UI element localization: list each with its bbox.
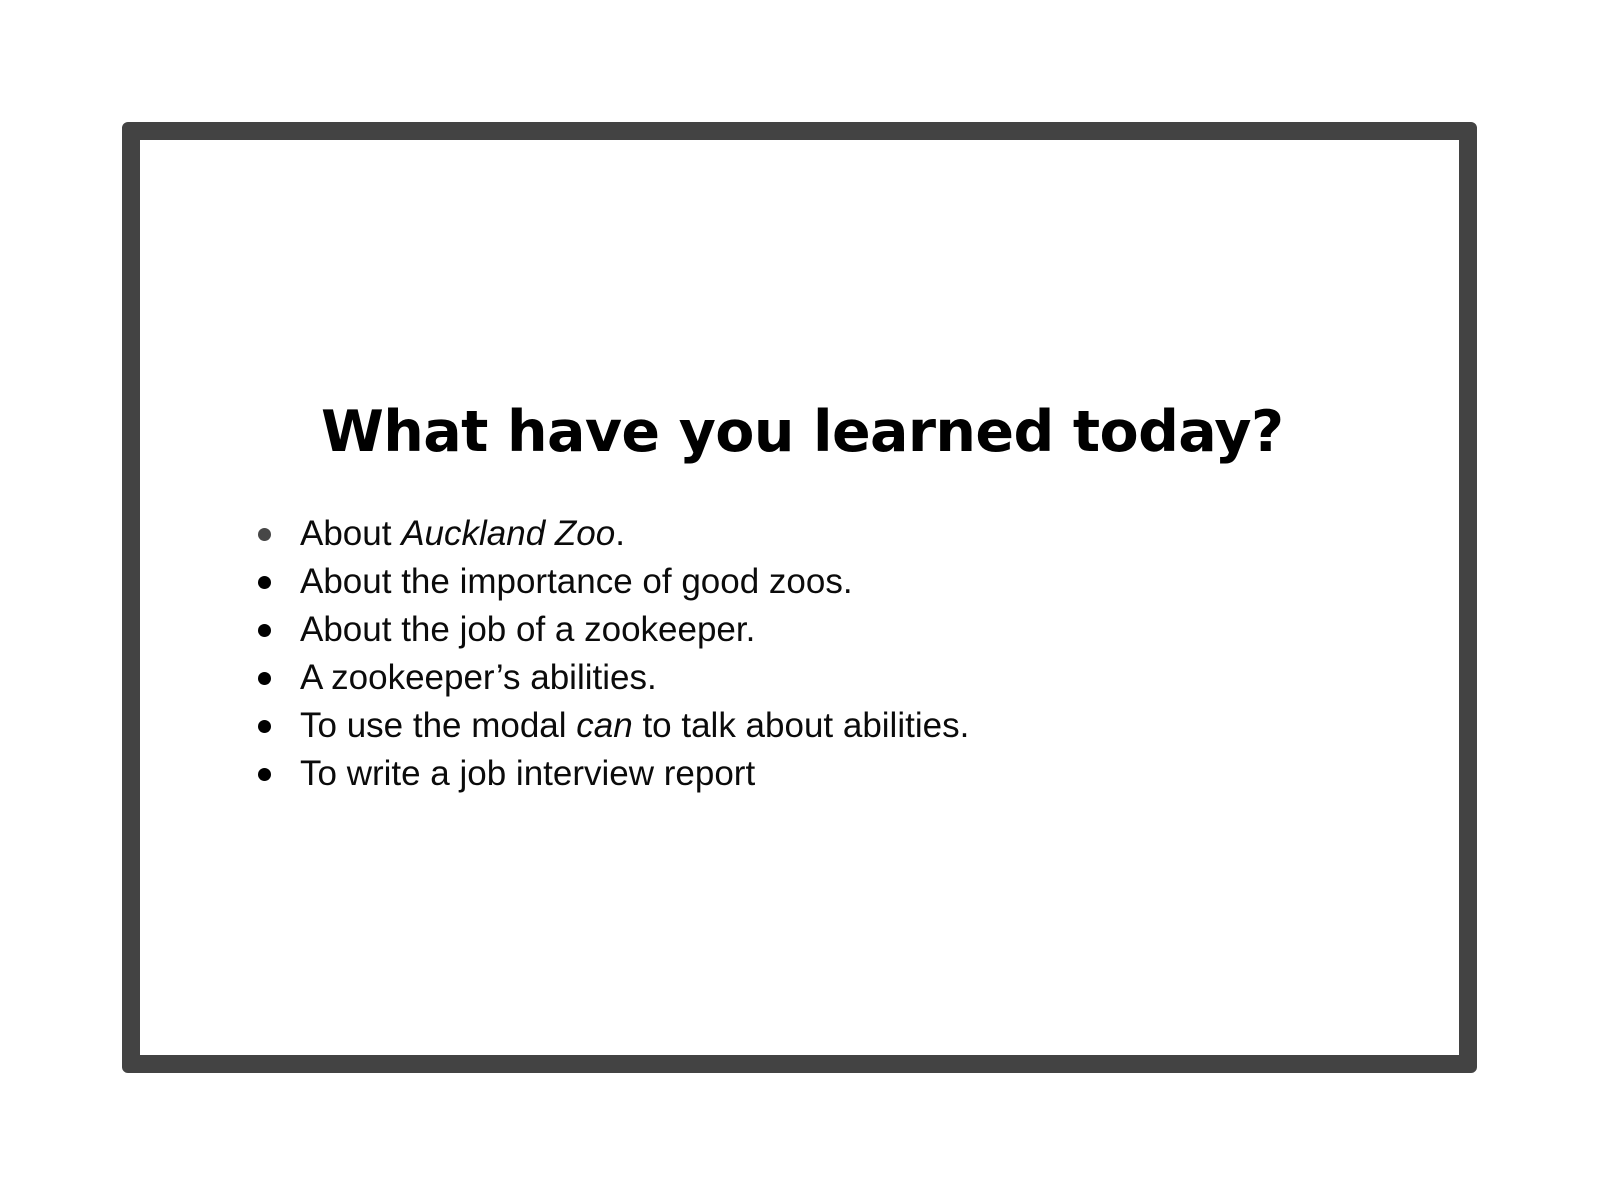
page-title: What have you learned today? bbox=[321, 403, 1221, 463]
list-item: To write a job interview report bbox=[240, 750, 1360, 798]
bullet-point-icon bbox=[258, 720, 271, 733]
bullet-point-icon bbox=[258, 768, 271, 781]
bullet-point-icon bbox=[258, 672, 271, 685]
list-item: To use the modal can to talk about abili… bbox=[240, 702, 1360, 750]
list-item: About the job of a zookeeper. bbox=[240, 606, 1360, 654]
list-item: A zookeeper’s abilities. bbox=[240, 654, 1360, 702]
emphasis-text: can bbox=[576, 706, 632, 745]
emphasis-text: Auckland Zoo bbox=[401, 514, 615, 553]
plain-text: About bbox=[300, 514, 401, 553]
list-item-label: To use the modal can to talk about abili… bbox=[300, 706, 969, 745]
list-item-label: A zookeeper’s abilities. bbox=[300, 658, 657, 697]
plain-text: To write a job interview report bbox=[300, 754, 755, 793]
list-item-label: About Auckland Zoo. bbox=[300, 514, 625, 553]
plain-text: About the importance of good zoos. bbox=[300, 562, 853, 601]
plain-text: A zookeeper’s abilities. bbox=[300, 658, 657, 697]
list-item-label: About the job of a zookeeper. bbox=[300, 610, 755, 649]
list-item: About the importance of good zoos. bbox=[240, 558, 1360, 606]
learning-outcomes-list: About Auckland Zoo.About the importance … bbox=[240, 510, 1360, 798]
slide-content-area: What have you learned today? About Auckl… bbox=[140, 140, 1459, 1055]
plain-text: To use the modal bbox=[300, 706, 576, 745]
bullet-point-icon bbox=[258, 576, 271, 589]
plain-text: . bbox=[615, 514, 625, 553]
list-item-label: About the importance of good zoos. bbox=[300, 562, 853, 601]
list-item: About Auckland Zoo. bbox=[240, 510, 1360, 558]
slide-canvas: What have you learned today? About Auckl… bbox=[0, 0, 1600, 1200]
slide-border-frame: What have you learned today? About Auckl… bbox=[122, 122, 1477, 1073]
plain-text: About the job of a zookeeper. bbox=[300, 610, 755, 649]
bullet-point-icon bbox=[258, 528, 271, 541]
bullet-point-icon bbox=[258, 624, 271, 637]
plain-text: to talk about abilities. bbox=[633, 706, 970, 745]
list-item-label: To write a job interview report bbox=[300, 754, 755, 793]
